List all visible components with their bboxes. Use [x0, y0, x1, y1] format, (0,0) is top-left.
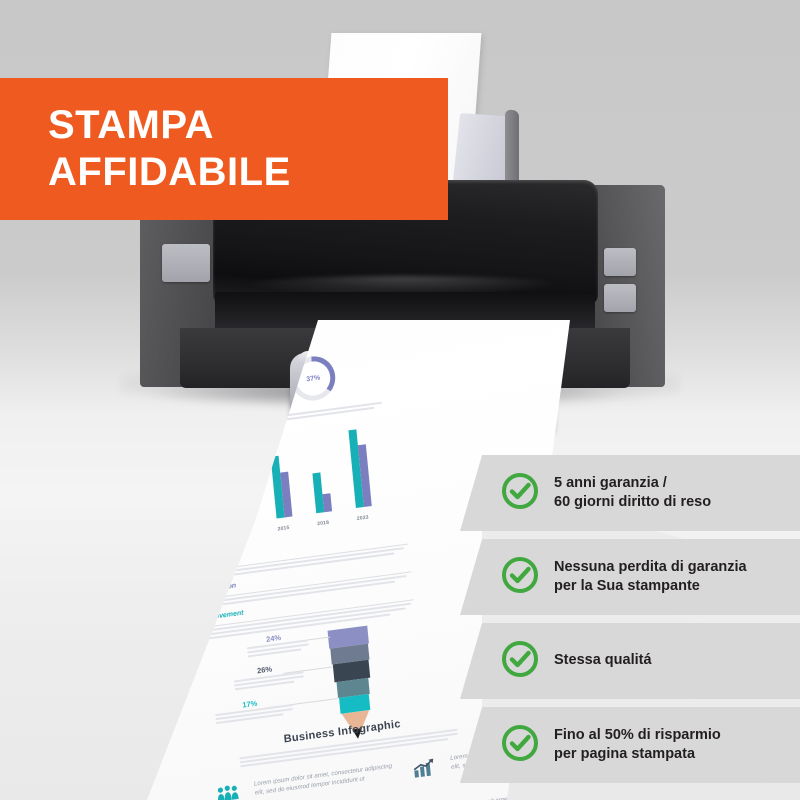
- check-circle-icon: [500, 555, 540, 600]
- printer-button-bottom-right[interactable]: [604, 284, 636, 312]
- icon-growth-chart: [412, 758, 436, 784]
- banner: STAMPAAFFIDABILE: [0, 78, 448, 220]
- feature-label-1: 5 anni garanzia / 60 giorni diritto di r…: [554, 474, 711, 513]
- legend-swatch-icon: [162, 455, 169, 459]
- bar-step01: [233, 479, 245, 524]
- icon-caption-4: Lorem ipsum dolor sit amet, consectetur …: [435, 785, 585, 800]
- bar-chart: 2006 2009 2012 2015: [151, 428, 407, 548]
- bar-step02: [164, 512, 174, 533]
- feature-label-3-line1: Stessa qualitá: [554, 652, 652, 668]
- printer-button-top-right[interactable]: [604, 248, 636, 276]
- feature-label-3: Stessa qualitá: [554, 651, 652, 670]
- list-title: Improvement: [200, 610, 244, 623]
- feature-label-4: Fino al 50% di risparmio per pagina stam…: [554, 726, 721, 765]
- legend-label: Step 02: [172, 451, 189, 458]
- bar-label-2015: 2015: [277, 525, 289, 533]
- list-number: 01: [160, 562, 173, 576]
- legend-swatch-icon: [161, 447, 168, 451]
- printer-button-left[interactable]: [162, 244, 210, 282]
- bar-label-2023: 2023: [357, 514, 369, 522]
- bar-step01: [312, 472, 324, 513]
- legend-item-step01: Step 01: [161, 444, 188, 452]
- icon-people-group: [216, 784, 240, 800]
- feature-box-3[interactable]: Stessa qualitá: [482, 623, 800, 699]
- icon-caption-1: Lorem ipsum dolor sit amet, consectetur …: [254, 760, 404, 798]
- feature-label-2: Nessuna perdita di garanzia per la Sua s…: [554, 558, 747, 597]
- banner-title-line2: AFFIDABILE: [48, 150, 291, 194]
- list-number: 02: [163, 590, 176, 604]
- funnel-label-2: 26%: [257, 664, 273, 675]
- check-circle-icon: [500, 639, 540, 684]
- printout-body-line: [164, 407, 374, 436]
- printout-footer-heading: Business Infographic: [283, 718, 401, 745]
- legend-label: Step 01: [171, 444, 188, 451]
- growth-bar-chart-icon: [412, 758, 436, 779]
- check-circle-icon: [500, 471, 540, 516]
- bar-step01: [192, 476, 205, 529]
- bar-step02: [322, 493, 332, 512]
- feature-box-1[interactable]: 5 anni garanzia / 60 giorni diritto di r…: [482, 455, 800, 531]
- feature-label-4-line1: Fino al 50% di risparmio: [554, 727, 721, 743]
- list-number: 03: [166, 618, 179, 632]
- feature-box-2[interactable]: Nessuna perdita di garanzia per la Sua s…: [482, 539, 800, 615]
- feature-box-4[interactable]: Fino al 50% di risparmio per pagina stam…: [482, 707, 800, 783]
- banner-title-line1: STAMPA: [48, 103, 214, 147]
- feature-label-1-line2: 60 giorni diritto di reso: [554, 494, 711, 510]
- people-group-icon: [216, 784, 239, 800]
- list-title: Distribution: [197, 582, 237, 594]
- poster-canvas: Banner Infographics 35% 37% Step 01: [0, 0, 800, 800]
- bar-label-2018: 2018: [317, 520, 329, 528]
- bar-step01: [155, 501, 166, 534]
- feature-label-4-line2: per pagina stampata: [554, 746, 695, 762]
- bar-step02: [242, 494, 253, 523]
- feature-label-1-line1: 5 anni garanzia /: [554, 475, 667, 491]
- bar-step02: [201, 487, 213, 528]
- bar-label-2012: 2012: [238, 530, 250, 538]
- feature-label-2-line2: per la Sua stampante: [554, 578, 700, 594]
- check-circle-icon: [500, 723, 540, 768]
- list-title: Advantage: [194, 555, 230, 567]
- legend-item-step02: Step 02: [162, 451, 189, 459]
- feature-label-2-line1: Nessuna perdita di garanzia: [554, 559, 747, 575]
- banner-title: STAMPAAFFIDABILE: [48, 102, 291, 196]
- list-item-01: 01 Advantage: [160, 530, 418, 564]
- bar-label-2009: 2009: [198, 535, 210, 543]
- bar-label-2006: 2006: [158, 541, 170, 549]
